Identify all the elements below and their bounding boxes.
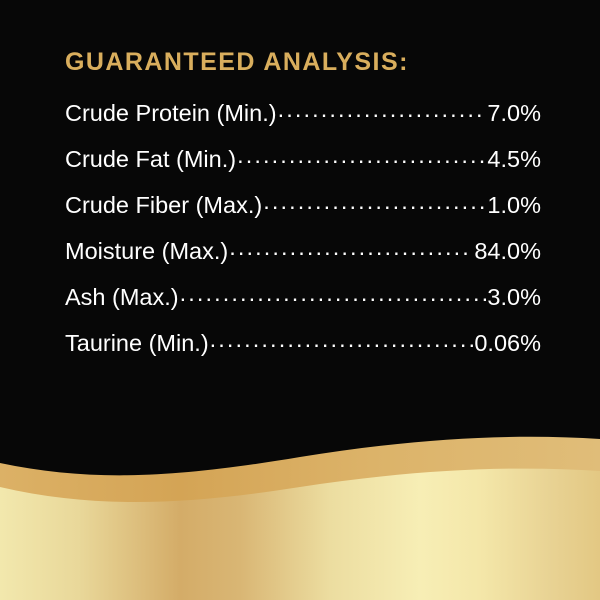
guaranteed-analysis-panel: GUARANTEED ANALYSIS: Crude Protein (Min.… — [0, 0, 600, 600]
table-row: Crude Fat (Min.) 4.5% — [65, 136, 541, 182]
leader-dots — [278, 98, 487, 122]
leader-dots — [180, 282, 487, 306]
leader-dots — [210, 328, 474, 352]
nutrient-value: 0.06% — [474, 320, 541, 366]
leader-dots — [229, 236, 473, 260]
nutrient-label: Ash (Max.) — [65, 274, 179, 320]
nutrient-value: 4.5% — [487, 136, 541, 182]
table-row: Ash (Max.) 3.0% — [65, 274, 541, 320]
nutrient-value: 7.0% — [487, 90, 541, 136]
table-row: Taurine (Min.) 0.06% — [65, 320, 541, 366]
leader-dots — [237, 144, 486, 168]
nutrient-label: Crude Fiber (Max.) — [65, 182, 262, 228]
nutrient-value: 3.0% — [487, 274, 541, 320]
leader-dots — [263, 190, 486, 214]
nutrient-label: Moisture (Max.) — [65, 228, 228, 274]
table-row: Moisture (Max.) 84.0% — [65, 228, 541, 274]
table-row: Crude Fiber (Max.) 1.0% — [65, 182, 541, 228]
guaranteed-analysis-table: Crude Protein (Min.) 7.0% Crude Fat (Min… — [65, 90, 541, 366]
page-title: GUARANTEED ANALYSIS: — [65, 48, 409, 76]
table-row: Crude Protein (Min.) 7.0% — [65, 90, 541, 136]
nutrient-label: Taurine (Min.) — [65, 320, 209, 366]
nutrient-label: Crude Protein (Min.) — [65, 90, 277, 136]
nutrient-label: Crude Fat (Min.) — [65, 136, 236, 182]
gold-wave-decoration — [0, 425, 600, 600]
nutrient-value: 1.0% — [487, 182, 541, 228]
nutrient-value: 84.0% — [474, 228, 541, 274]
